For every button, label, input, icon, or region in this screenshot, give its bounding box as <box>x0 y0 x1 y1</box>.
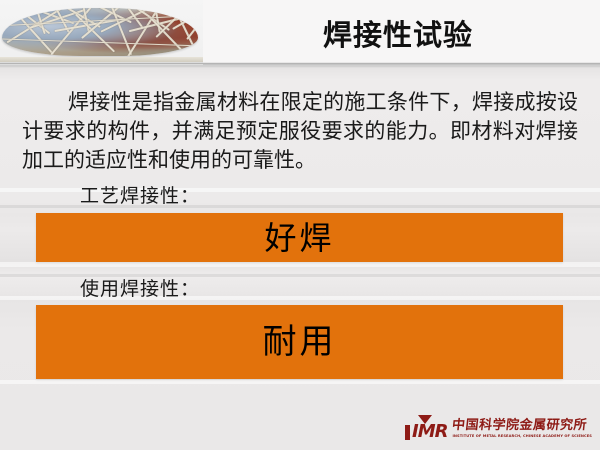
presentation-slide: 焊接性试验 焊接性是指金属材料在限定的施工条件下，焊接成按设计要求的构件，并满足… <box>0 0 600 450</box>
imr-logomark-icon: IMR <box>405 418 447 440</box>
answer-box-service-weldability: 耐用 <box>36 305 563 379</box>
slide-title: 焊接性试验 <box>203 18 593 52</box>
answer-box-process-weldability: 好焊 <box>36 213 563 262</box>
header-divider-shadow <box>0 65 600 66</box>
logo-triangle-icon <box>418 415 432 424</box>
logo-bar <box>405 425 410 440</box>
answer-text-process-weldability: 好焊 <box>264 220 334 256</box>
header-divider <box>0 63 600 64</box>
stadium-bowl <box>2 8 198 56</box>
answer-text-service-weldability: 耐用 <box>263 324 337 360</box>
logo-english-name: INSTITUTE OF METAL RESEARCH, CHINESE ACA… <box>452 433 591 439</box>
logo-text-column: 中国科学院金属研究所 INSTITUTE OF METAL RESEARCH, … <box>452 419 591 439</box>
section-label-service-weldability: 使用焊接性： <box>80 277 200 301</box>
logo-chinese-name: 中国科学院金属研究所 <box>452 419 593 433</box>
stadium-header-image <box>0 0 203 66</box>
definition-paragraph: 焊接性是指金属材料在限定的施工条件下，焊接成按设计要求的构件，并满足预定服役要求… <box>22 88 578 175</box>
logo-acronym: IMR <box>412 424 447 440</box>
imr-logo: IMR 中国科学院金属研究所 INSTITUTE OF METAL RESEAR… <box>405 414 595 444</box>
section-label-process-weldability: 工艺焊接性： <box>80 184 200 208</box>
stadium-lattice-strands <box>2 8 198 56</box>
